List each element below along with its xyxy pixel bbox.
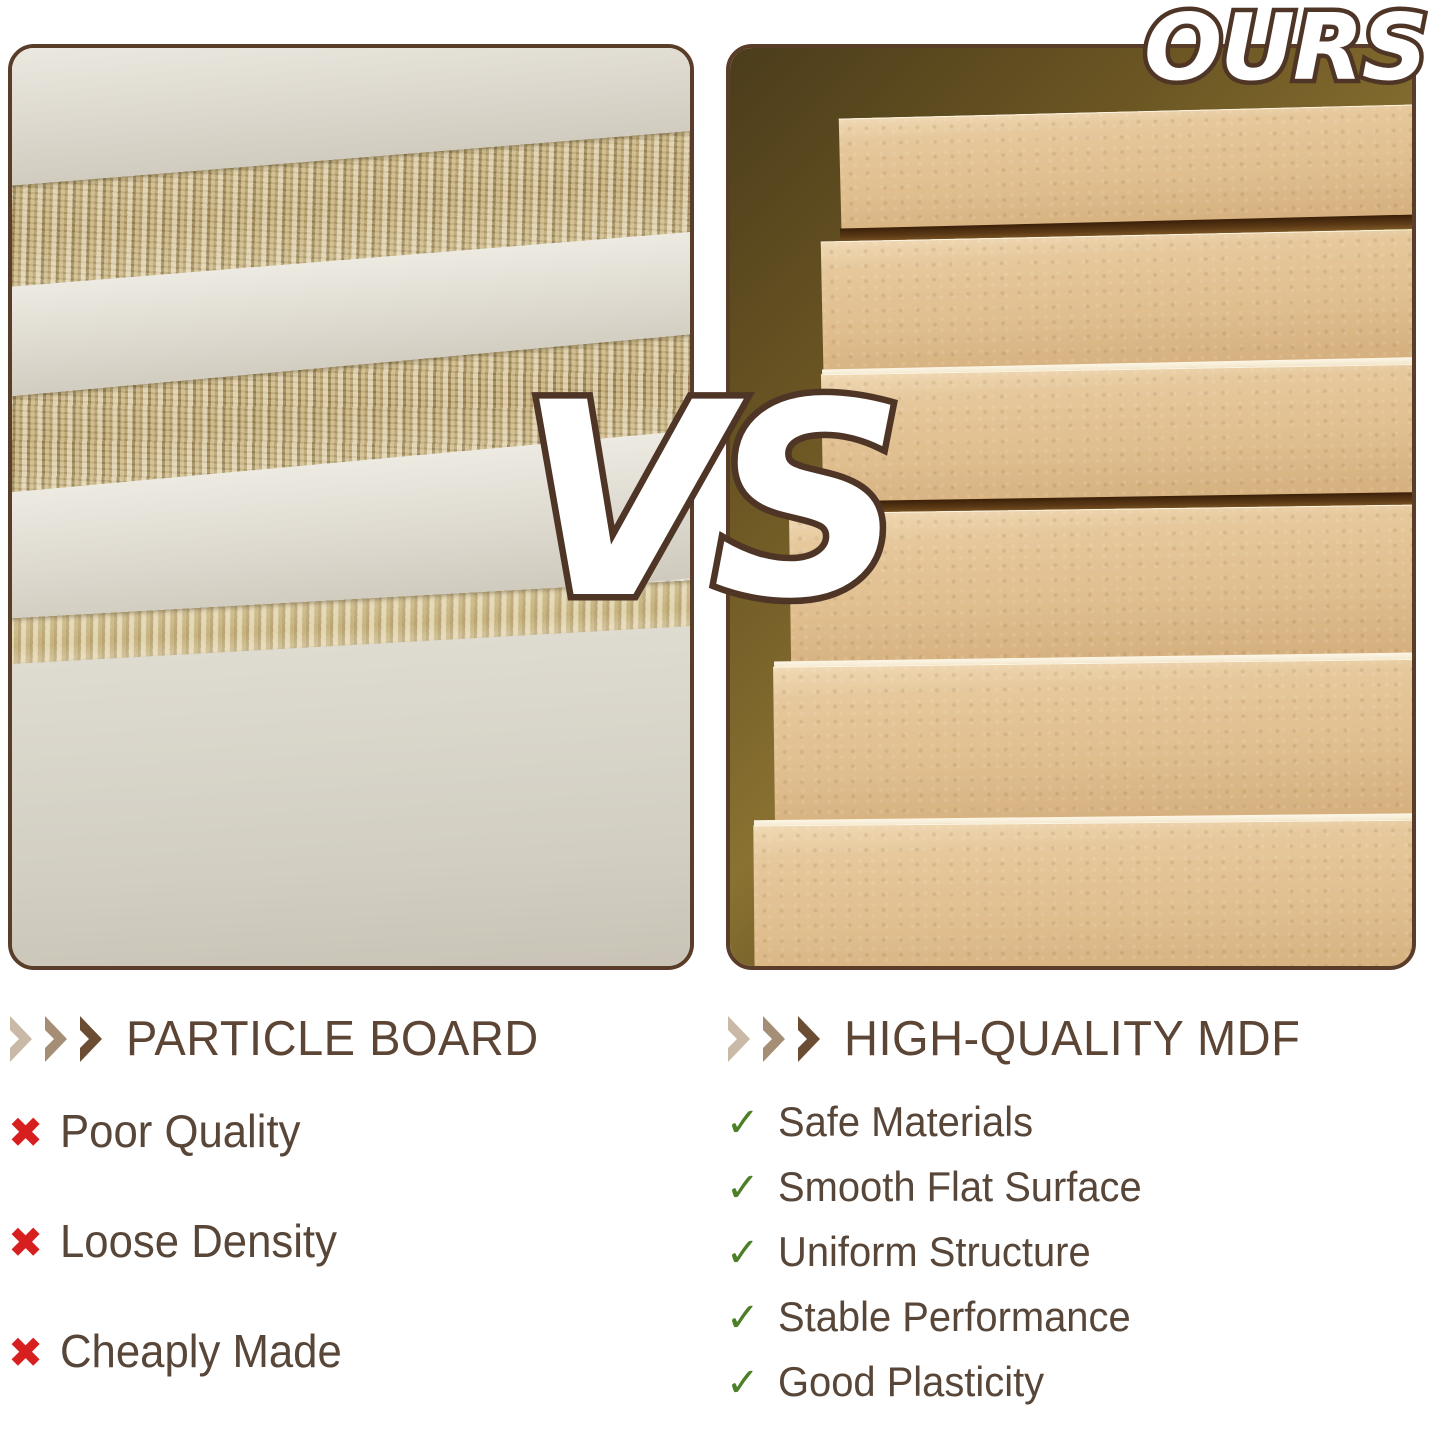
comparison-lists: PARTICLE BOARD ✖ Poor Quality ✖ Loose De… (0, 1000, 1444, 1430)
chevron-right-icon (796, 1014, 822, 1064)
chevron-group-left (8, 1014, 104, 1064)
comparison-images: VS OURS (0, 0, 1444, 1000)
particle-board-list: ✖ Poor Quality ✖ Loose Density ✖ Cheaply… (8, 1104, 708, 1434)
particle-board-image-panel (8, 44, 694, 970)
list-item-label: Good Plasticity (778, 1358, 1044, 1406)
chevron-right-icon (726, 1014, 752, 1064)
chevron-group-right (726, 1014, 822, 1064)
chevron-right-icon (8, 1014, 34, 1064)
laminate-face-4 (8, 623, 694, 970)
list-item: ✖ Poor Quality (8, 1104, 708, 1214)
list-item-label: Safe Materials (778, 1098, 1033, 1146)
mdf-board-2 (821, 226, 1416, 371)
mdf-image-panel (726, 44, 1416, 970)
list-item-label: Poor Quality (60, 1104, 300, 1158)
cross-icon: ✖ (8, 1222, 60, 1264)
particle-board-column: PARTICLE BOARD ✖ Poor Quality ✖ Loose De… (8, 1000, 708, 1430)
check-icon: ✓ (726, 1363, 778, 1403)
list-item-label: Cheaply Made (60, 1324, 342, 1378)
check-icon: ✓ (726, 1233, 778, 1273)
particle-board-heading: PARTICLE BOARD (8, 1000, 708, 1078)
check-icon: ✓ (726, 1168, 778, 1208)
mdf-board-4 (789, 503, 1416, 664)
chevron-right-icon (43, 1014, 69, 1064)
list-item-label: Uniform Structure (778, 1228, 1091, 1276)
list-item-label: Loose Density (60, 1214, 337, 1268)
list-item: ✓ Smooth Flat Surface (726, 1163, 1426, 1228)
mdf-board-1 (839, 101, 1416, 230)
list-item-label: Smooth Flat Surface (778, 1163, 1142, 1211)
mdf-heading: HIGH-QUALITY MDF (726, 1000, 1426, 1078)
mdf-title: HIGH-QUALITY MDF (844, 1011, 1300, 1067)
particle-board-photo (12, 48, 690, 966)
cross-icon: ✖ (8, 1112, 60, 1154)
mdf-board-6 (753, 819, 1416, 970)
particle-board-title: PARTICLE BOARD (126, 1011, 539, 1067)
cross-icon: ✖ (8, 1332, 60, 1374)
list-item: ✓ Safe Materials (726, 1098, 1426, 1163)
chevron-right-icon (761, 1014, 787, 1064)
mdf-photo (730, 48, 1412, 966)
mdf-list: ✓ Safe Materials ✓ Smooth Flat Surface ✓… (726, 1098, 1426, 1423)
list-item: ✓ Good Plasticity (726, 1358, 1426, 1423)
check-icon: ✓ (726, 1298, 778, 1338)
list-item-label: Stable Performance (778, 1293, 1131, 1341)
mdf-board-5 (773, 657, 1416, 825)
list-item: ✓ Stable Performance (726, 1293, 1426, 1358)
check-icon: ✓ (726, 1103, 778, 1143)
list-item: ✖ Loose Density (8, 1214, 708, 1324)
list-item: ✓ Uniform Structure (726, 1228, 1426, 1293)
chevron-right-icon (78, 1014, 104, 1064)
mdf-column: HIGH-QUALITY MDF ✓ Safe Materials ✓ Smoo… (726, 1000, 1426, 1430)
mdf-board-3 (821, 362, 1416, 505)
list-item: ✖ Cheaply Made (8, 1324, 708, 1434)
